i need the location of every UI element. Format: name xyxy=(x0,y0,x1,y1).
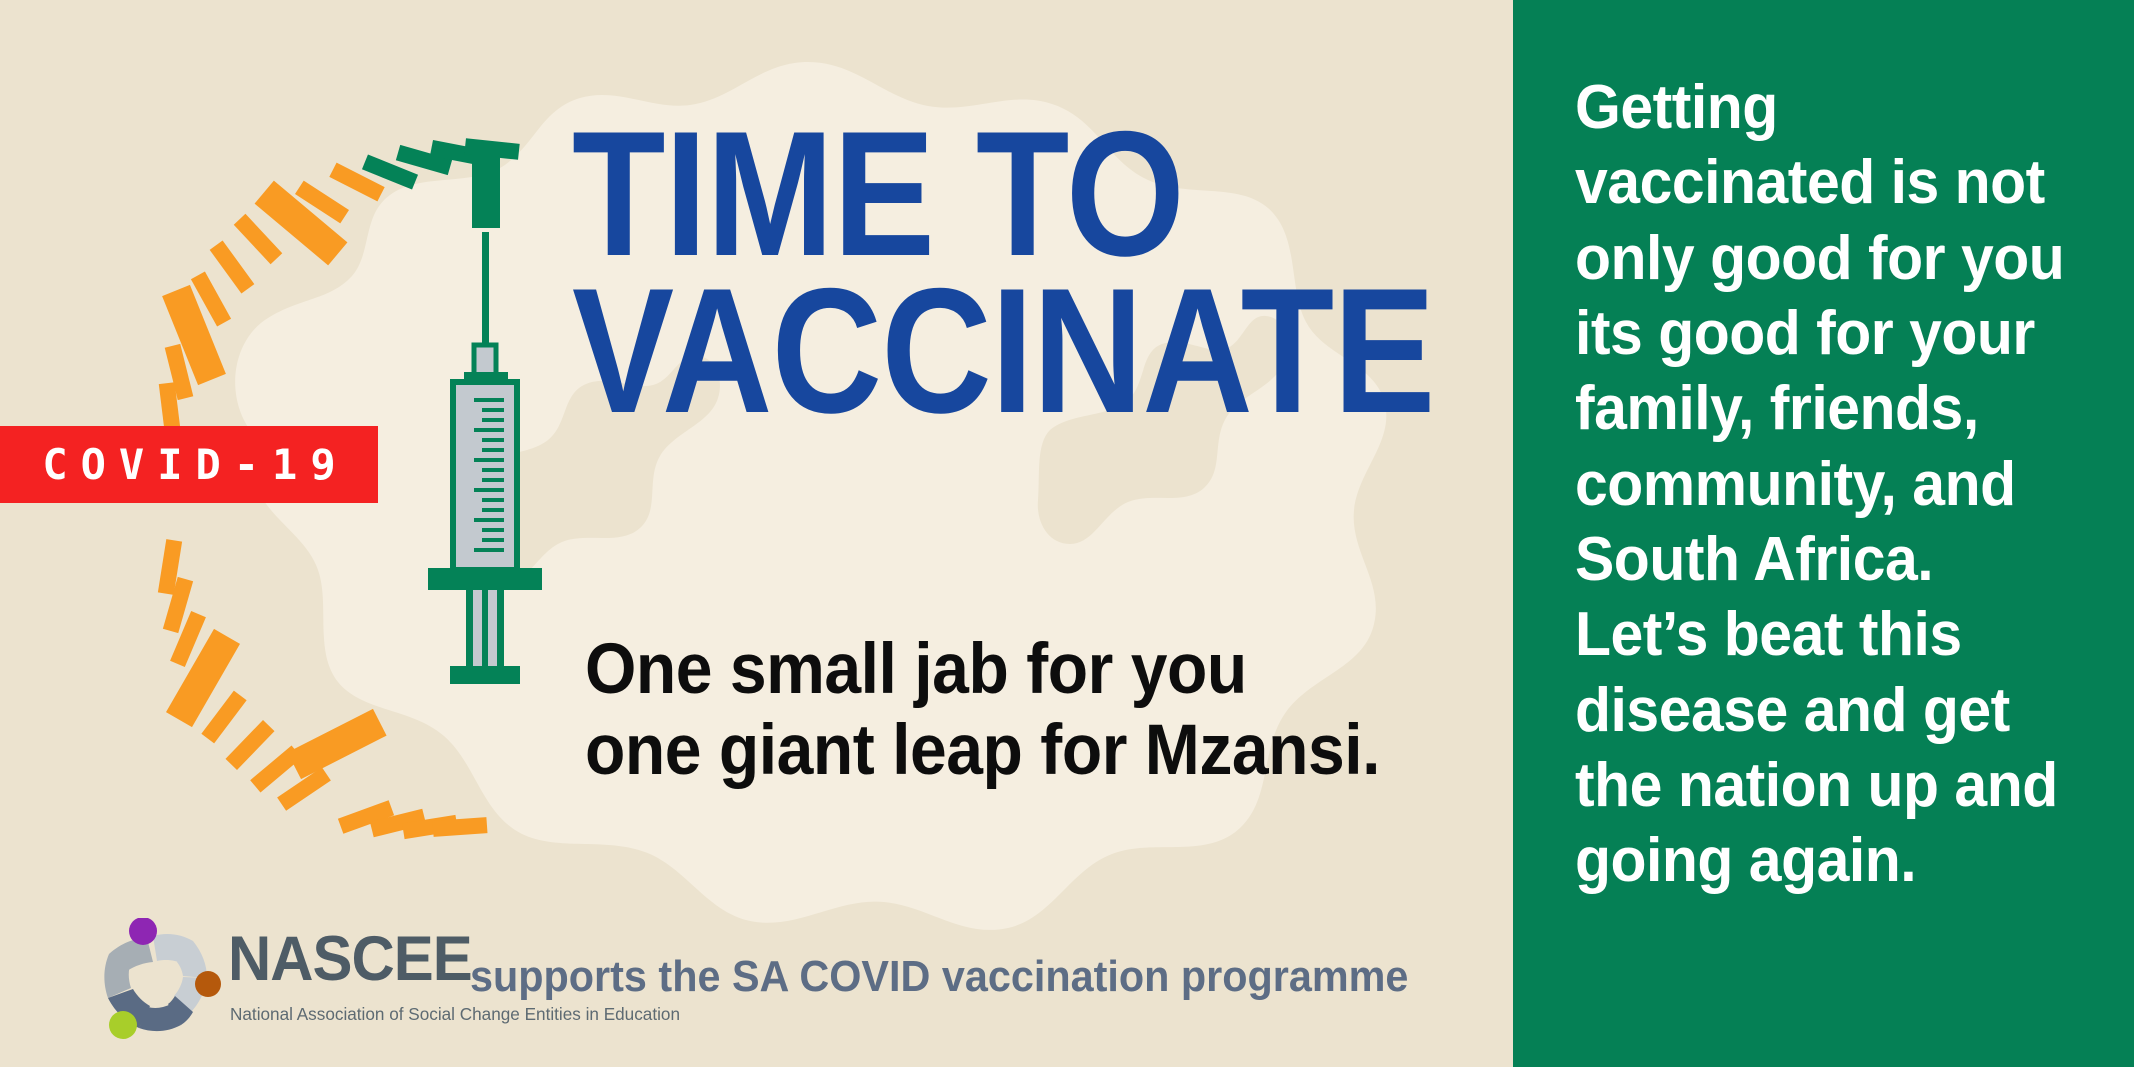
green-panel-line: South Africa. xyxy=(1575,522,2088,597)
green-panel-line: Getting xyxy=(1575,70,2088,145)
green-panel-line: going again. xyxy=(1575,823,2088,898)
nascee-wordmark: NASCEE xyxy=(228,928,472,991)
poster-canvas: COVID-19 TIME TO VACCINATE One small jab… xyxy=(0,0,2134,1067)
page-title: TIME TO VACCINATE xyxy=(572,116,1435,429)
green-message-panel: Getting vaccinated is not only good for … xyxy=(1513,0,2134,1067)
page-title-line-1: TIME TO xyxy=(572,116,1435,273)
green-panel-line: disease and get xyxy=(1575,673,2088,748)
nascee-logo-icon xyxy=(95,918,225,1043)
green-panel-line: its good for your xyxy=(1575,296,2088,371)
page-title-line-2: VACCINATE xyxy=(572,273,1435,430)
logo-dot-green xyxy=(109,1011,137,1039)
page-subtitle: One small jab for you one giant leap for… xyxy=(585,630,1380,792)
page-subtitle-line-1: One small jab for you xyxy=(585,630,1380,711)
green-panel-line: the nation up and xyxy=(1575,748,2088,823)
green-panel-line: community, and xyxy=(1575,447,2088,522)
nascee-tagline: National Association of Social Change En… xyxy=(230,1004,680,1025)
page-subtitle-line-2: one giant leap for Mzansi. xyxy=(585,711,1380,792)
left-panel: COVID-19 TIME TO VACCINATE One small jab… xyxy=(0,0,1513,1067)
logo-dot-orange xyxy=(195,971,221,997)
covid-19-badge: COVID-19 xyxy=(0,426,378,503)
green-panel-line: family, friends, xyxy=(1575,371,2088,446)
support-statement: supports the SA COVID vaccination progra… xyxy=(470,952,1408,1002)
green-panel-line: Let’s beat this xyxy=(1575,597,2088,672)
covid-19-badge-label: COVID-19 xyxy=(29,440,348,489)
green-panel-line: vaccinated is not xyxy=(1575,145,2088,220)
green-panel-line: only good for you xyxy=(1575,221,2088,296)
logo-dot-purple xyxy=(129,918,157,945)
green-panel-message: Getting vaccinated is not only good for … xyxy=(1575,70,2088,899)
